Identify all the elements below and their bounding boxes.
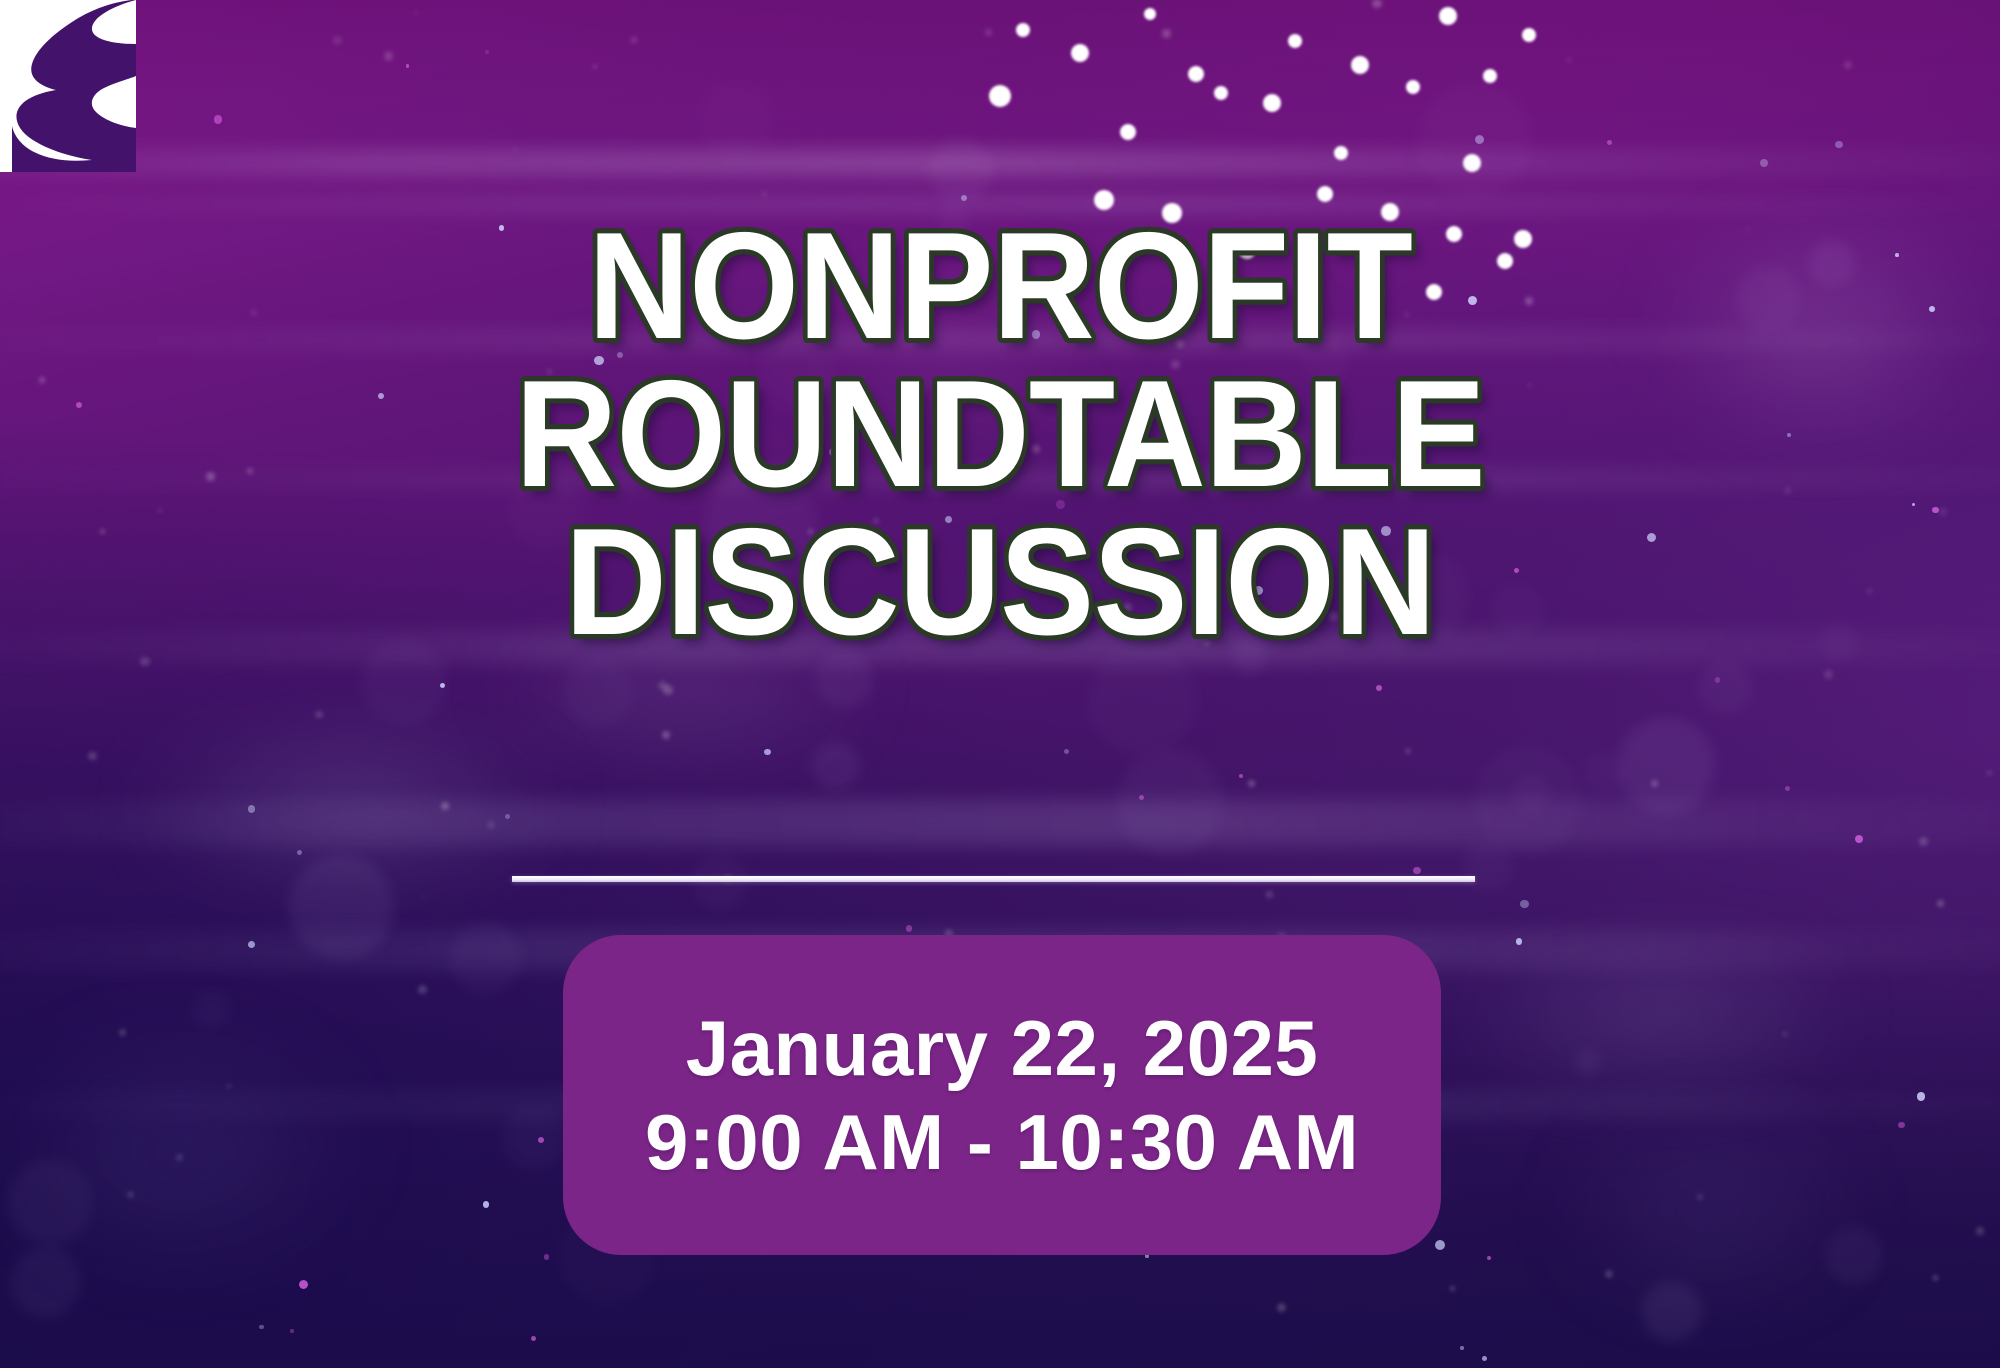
background-top-shade <box>0 0 2000 230</box>
brand-logo[interactable] <box>0 0 136 172</box>
event-time-range: 9:00 AM - 10:30 AM <box>645 1095 1359 1189</box>
title-line-3: DISCUSSION <box>70 508 1930 656</box>
stylized-s-monogram-icon <box>0 0 136 172</box>
event-banner: NONPROFIT ROUNDTABLE DISCUSSION January … <box>0 0 2000 1368</box>
horizontal-divider <box>512 876 1475 882</box>
page-title: NONPROFIT ROUNDTABLE DISCUSSION <box>0 212 2000 656</box>
date-time-card: January 22, 2025 9:00 AM - 10:30 AM <box>563 935 1441 1255</box>
event-date: January 22, 2025 <box>686 1001 1318 1095</box>
title-line-2: ROUNDTABLE <box>70 360 1930 508</box>
title-line-1: NONPROFIT <box>70 212 1930 360</box>
